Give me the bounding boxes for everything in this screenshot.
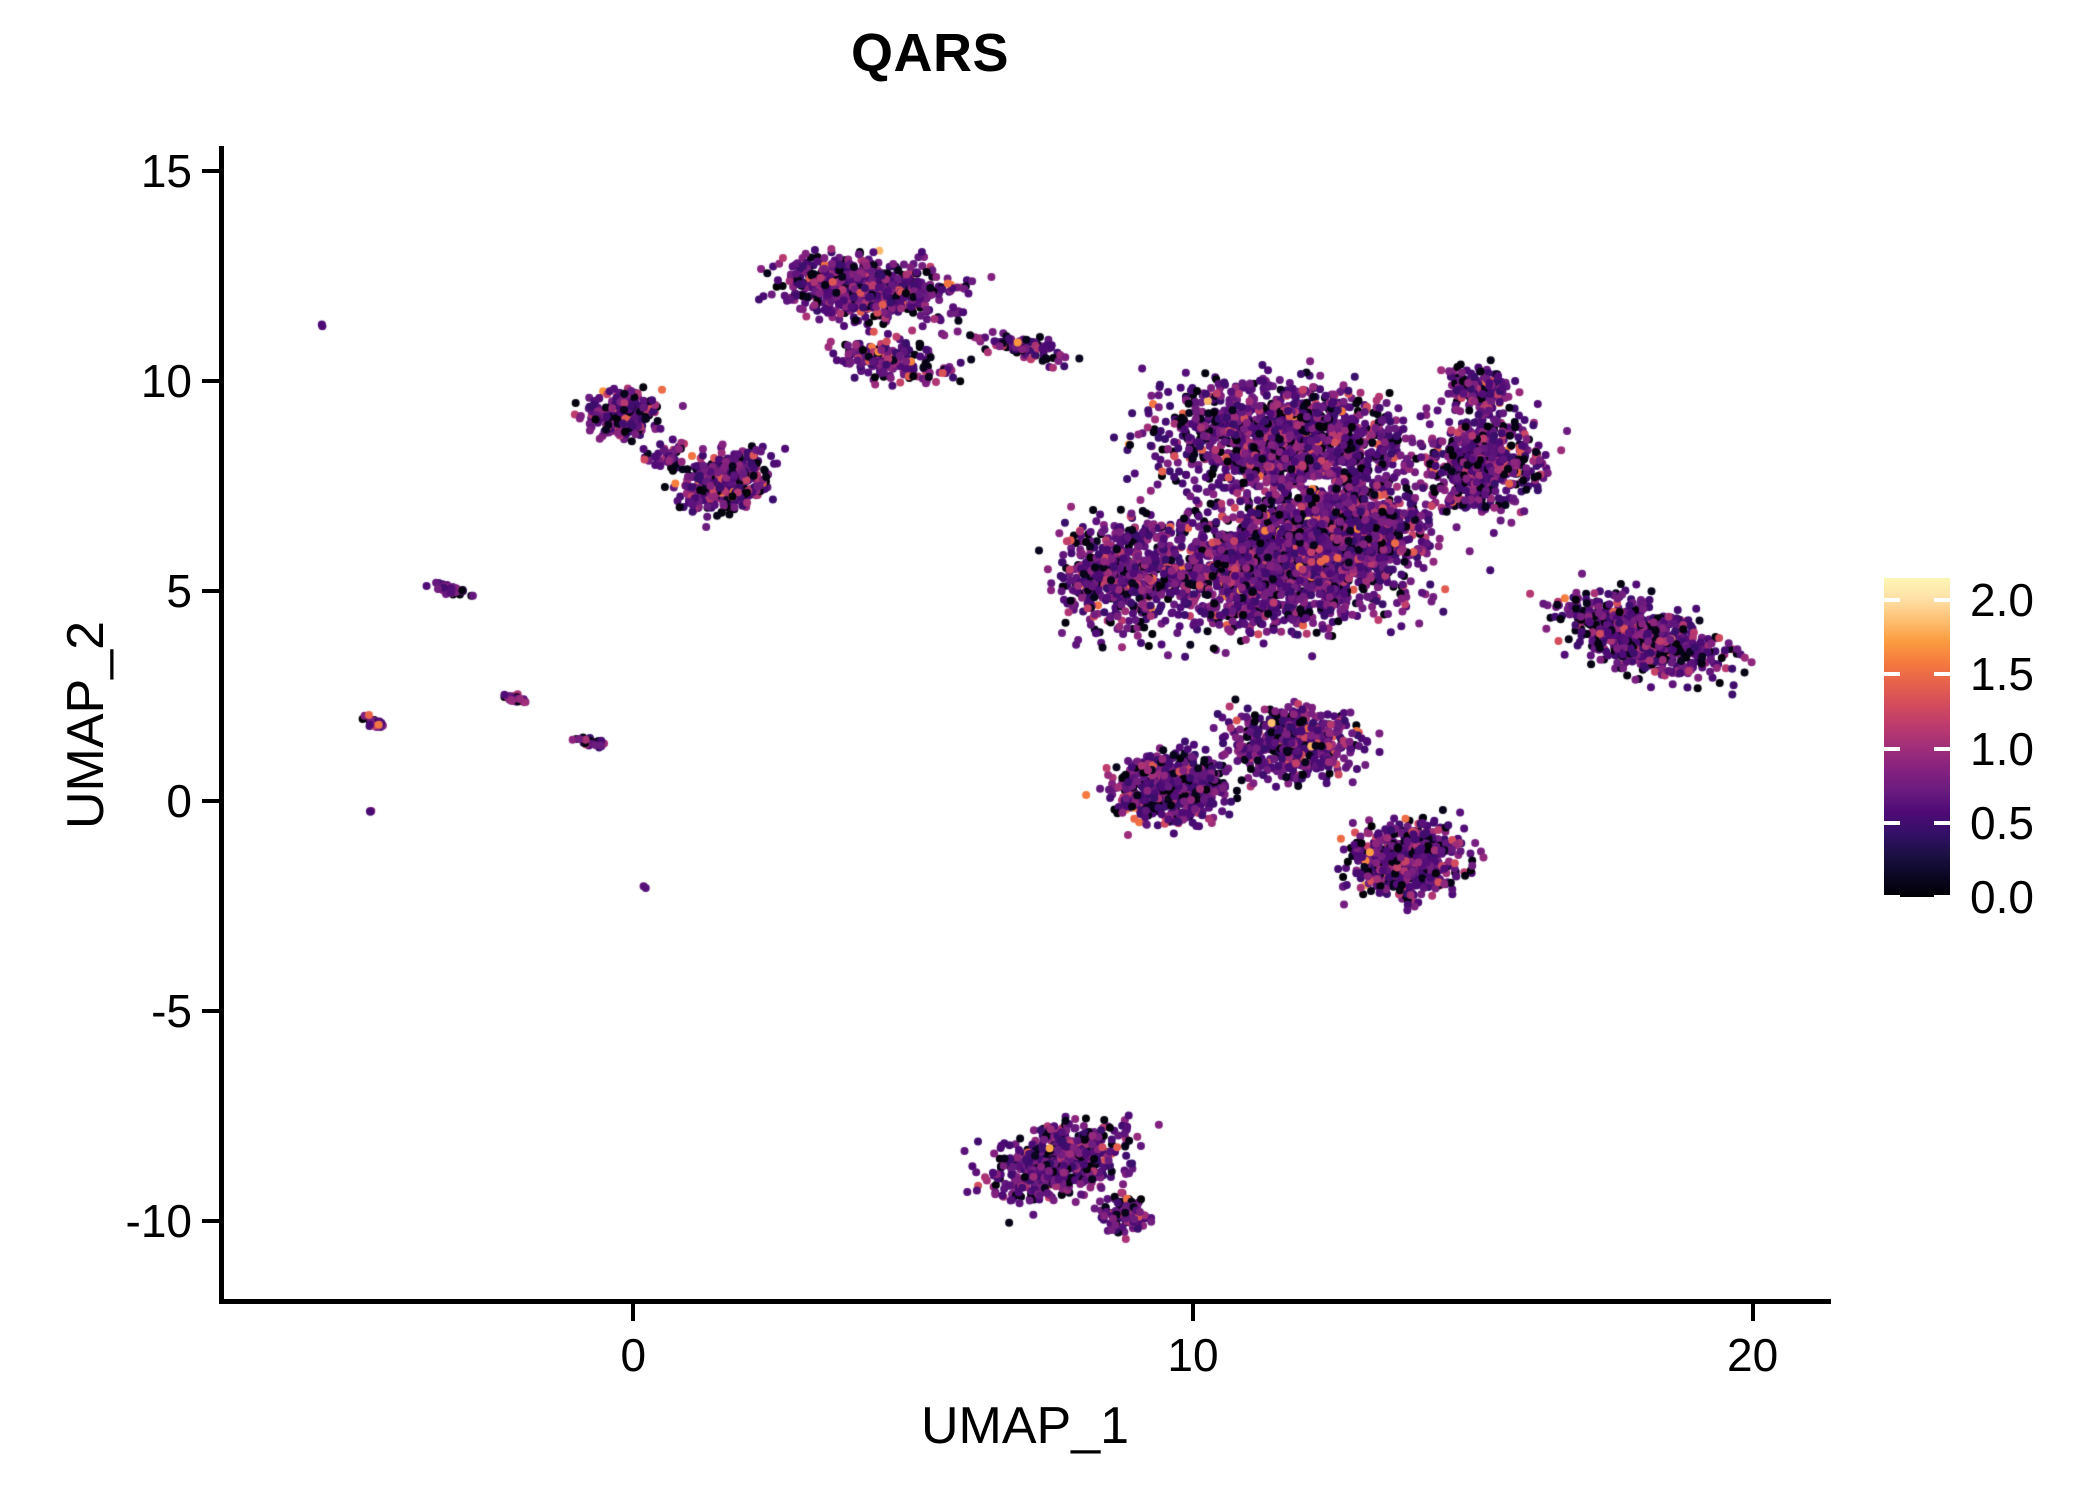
y-axis-title: UMAP_2: [56, 146, 116, 1304]
x-axis-title: UMAP_1: [219, 1396, 1831, 1456]
x-axis-line: [219, 1299, 1831, 1304]
y-tick-label: 5: [166, 564, 192, 618]
colorbar-gradient: [1884, 578, 1950, 897]
y-tick-mark: [202, 169, 219, 173]
scatter-plot-canvas: [0, 0, 2100, 1500]
umap-figure-panel: QARS -10-5051015 01020 UMAP_1 UMAP_2 0.0…: [0, 0, 2100, 1500]
colorbar-tick-label: 0.0: [1970, 870, 2034, 924]
x-tick-label: 0: [621, 1328, 647, 1382]
y-axis-line: [219, 146, 224, 1304]
colorbar-tick-label: 0.5: [1970, 796, 2034, 850]
x-tick-label: 10: [1167, 1328, 1218, 1382]
colorbar-tick-label: 1.0: [1970, 722, 2034, 776]
y-tick-mark: [202, 1009, 219, 1013]
y-tick-mark: [202, 589, 219, 593]
y-tick-label: -10: [126, 1194, 192, 1248]
y-tick-label: -5: [151, 984, 192, 1038]
colorbar-tick-label: 1.5: [1970, 647, 2034, 701]
y-tick-mark: [202, 799, 219, 803]
colorbar-tick-mark: [1884, 598, 1950, 602]
x-tick-mark: [1751, 1304, 1755, 1321]
y-tick-label: 10: [141, 354, 192, 408]
x-tick-mark: [1191, 1304, 1195, 1321]
colorbar-tick-mark: [1884, 747, 1950, 751]
y-tick-label: 0: [166, 774, 192, 828]
x-tick-label: 20: [1727, 1328, 1778, 1382]
colorbar-tick-mark: [1884, 672, 1950, 676]
colorbar-legend: 0.00.51.01.52.0: [1884, 578, 2084, 908]
colorbar-tick-mark: [1884, 821, 1950, 825]
colorbar-tick-label: 2.0: [1970, 573, 2034, 627]
colorbar: [1884, 578, 1950, 897]
y-tick-mark: [202, 1219, 219, 1223]
y-tick-mark: [202, 379, 219, 383]
colorbar-tick-mark: [1884, 895, 1950, 899]
y-tick-label: 15: [141, 144, 192, 198]
x-tick-mark: [631, 1304, 635, 1321]
